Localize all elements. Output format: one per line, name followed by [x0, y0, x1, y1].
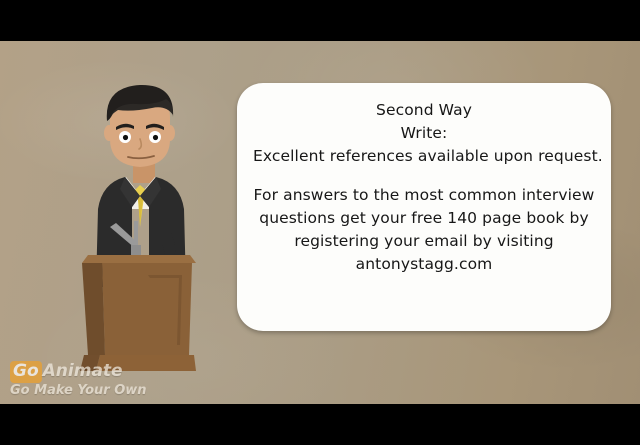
card-line-write: Write: [253, 122, 595, 145]
card-line-offer-3: registering your email by visiting [253, 230, 595, 253]
watermark-go-badge: Go [10, 361, 42, 383]
card-line-website: antonystagg.com [253, 253, 595, 276]
wooden-podium [76, 221, 202, 381]
text-card: Second Way Write: Excellent references a… [237, 83, 611, 331]
card-line-offer-1: For answers to the most common interview [253, 184, 595, 207]
letterbox-bar-bottom [0, 404, 640, 445]
card-line-references: Excellent references available upon requ… [253, 145, 595, 168]
card-line-heading: Second Way [253, 99, 595, 122]
goanimate-watermark: Go Animate Go Make Your Own [10, 361, 147, 398]
letterbox-bar-top [0, 0, 640, 41]
watermark-tagline: Go Make Your Own [10, 384, 147, 398]
card-text-bottom-block: For answers to the most common interview… [253, 184, 595, 275]
video-frame: Second Way Write: Excellent references a… [0, 0, 640, 445]
card-text-top-block: Second Way Write: Excellent references a… [253, 99, 595, 167]
microphone-stand [110, 221, 141, 257]
card-line-offer-2: questions get your free 140 page book by [253, 207, 595, 230]
animation-scene: Second Way Write: Excellent references a… [0, 41, 640, 404]
watermark-logo-row: Go Animate [10, 361, 147, 383]
watermark-animate-text: Animate [43, 363, 123, 380]
